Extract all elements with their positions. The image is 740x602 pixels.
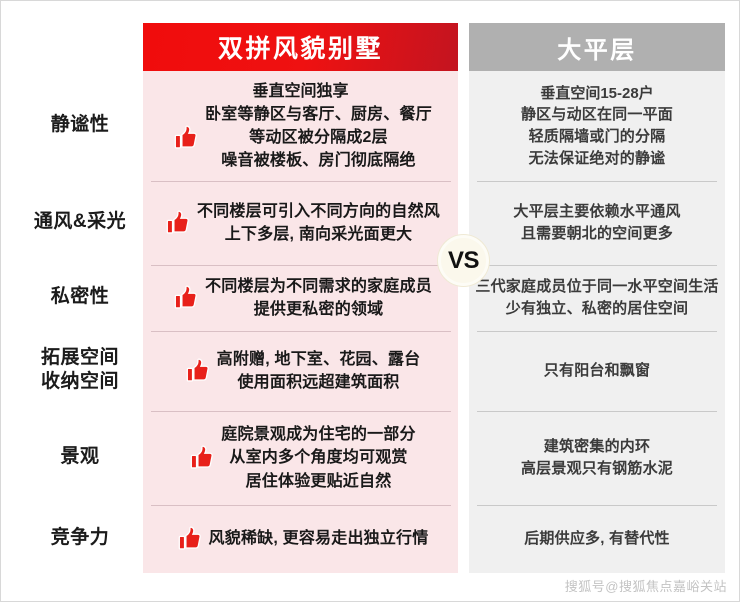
row-label-5: 景观 bbox=[19, 445, 141, 469]
cell-body-text: 庭院景观成为住宅的一部分 从室内多个角度均可观赏 居住体验更贴近自然 bbox=[221, 423, 415, 493]
cell-body-text: 风貌稀缺, 更容易走出独立行情 bbox=[209, 527, 429, 550]
cell-body-text: 三代家庭成员位于同一水平空间生活 少有独立、私密的居住空间 bbox=[475, 276, 718, 320]
cell-left-row-3: 不同楼层为不同需求的家庭成员 提供更私密的领域 bbox=[143, 265, 458, 331]
cell-body-text: 只有阳台和飘窗 bbox=[544, 360, 650, 382]
thumbs-up-icon bbox=[163, 208, 193, 238]
watermark: 搜狐号@搜狐焦点嘉峪关站 bbox=[565, 576, 727, 595]
cell-right-row-5: 建筑密集的内环 高层景观只有钢筋水泥 bbox=[469, 411, 725, 505]
row-label-1: 静谧性 bbox=[19, 113, 141, 137]
row-label-3: 私密性 bbox=[19, 285, 141, 309]
cell-left-row-6: 风貌稀缺, 更容易走出独立行情 bbox=[143, 505, 458, 573]
cell-right-row-6: 后期供应多, 有替代性 bbox=[469, 505, 725, 573]
cell-body-text: 不同楼层为不同需求的家庭成员 提供更私密的领域 bbox=[205, 275, 432, 321]
vs-badge: VS bbox=[438, 235, 489, 286]
cell-right-row-1: 垂直空间15-28户静区与动区在同一平面 轻质隔墙或门的分隔 无法保证绝对的静谧 bbox=[469, 71, 725, 181]
comparison-infographic: 双拼风貌别墅 大平层 静谧性垂直空间独享卧室等静区与客厅、厨房、餐厅 等动区被分… bbox=[0, 0, 740, 602]
cell-left-row-2: 不同楼层可引入不同方向的自然风 上下多层, 南向采光面更大 bbox=[143, 181, 458, 265]
cell-body-text: 大平层主要依赖水平通风 且需要朝北的空间更多 bbox=[513, 201, 680, 245]
thumbs-up-icon bbox=[183, 356, 213, 386]
cell-lead-text: 垂直空间15-28户 bbox=[540, 83, 653, 105]
cell-body-text: 卧室等静区与客厅、厨房、餐厅 等动区被分隔成2层 噪音被楼板、房门彻底隔绝 bbox=[205, 103, 432, 173]
row-label-2: 通风&采光 bbox=[19, 210, 141, 234]
row-label-4: 拓展空间 收纳空间 bbox=[19, 346, 141, 395]
cell-lead-text: 垂直空间独享 bbox=[252, 80, 348, 103]
cell-body-text: 建筑密集的内环 高层景观只有钢筋水泥 bbox=[521, 436, 673, 480]
row-label-6: 竞争力 bbox=[19, 526, 141, 550]
cell-left-row-5: 庭院景观成为住宅的一部分 从室内多个角度均可观赏 居住体验更贴近自然 bbox=[143, 411, 458, 505]
thumbs-up-icon bbox=[171, 123, 201, 153]
cell-body-text: 后期供应多, 有替代性 bbox=[524, 528, 670, 550]
thumbs-up-icon bbox=[175, 524, 205, 554]
thumbs-up-icon bbox=[187, 443, 217, 473]
vs-badge-label: VS bbox=[448, 247, 479, 275]
cell-body-text: 高附赠, 地下室、花园、露台 使用面积远超建筑面积 bbox=[217, 348, 421, 394]
cell-left-row-1: 垂直空间独享卧室等静区与客厅、厨房、餐厅 等动区被分隔成2层 噪音被楼板、房门彻… bbox=[143, 71, 458, 181]
cell-left-row-4: 高附赠, 地下室、花园、露台 使用面积远超建筑面积 bbox=[143, 331, 458, 411]
cell-body-text: 静区与动区在同一平面 轻质隔墙或门的分隔 无法保证绝对的静谧 bbox=[521, 104, 673, 169]
cell-right-row-4: 只有阳台和飘窗 bbox=[469, 331, 725, 411]
cell-body-text: 不同楼层可引入不同方向的自然风 上下多层, 南向采光面更大 bbox=[197, 200, 440, 246]
cell-right-row-2: 大平层主要依赖水平通风 且需要朝北的空间更多 bbox=[469, 181, 725, 265]
thumbs-up-icon bbox=[171, 283, 201, 313]
cell-right-row-3: 三代家庭成员位于同一水平空间生活 少有独立、私密的居住空间 bbox=[469, 265, 725, 331]
comparison-grid: 静谧性垂直空间独享卧室等静区与客厅、厨房、餐厅 等动区被分隔成2层 噪音被楼板、… bbox=[1, 1, 740, 602]
